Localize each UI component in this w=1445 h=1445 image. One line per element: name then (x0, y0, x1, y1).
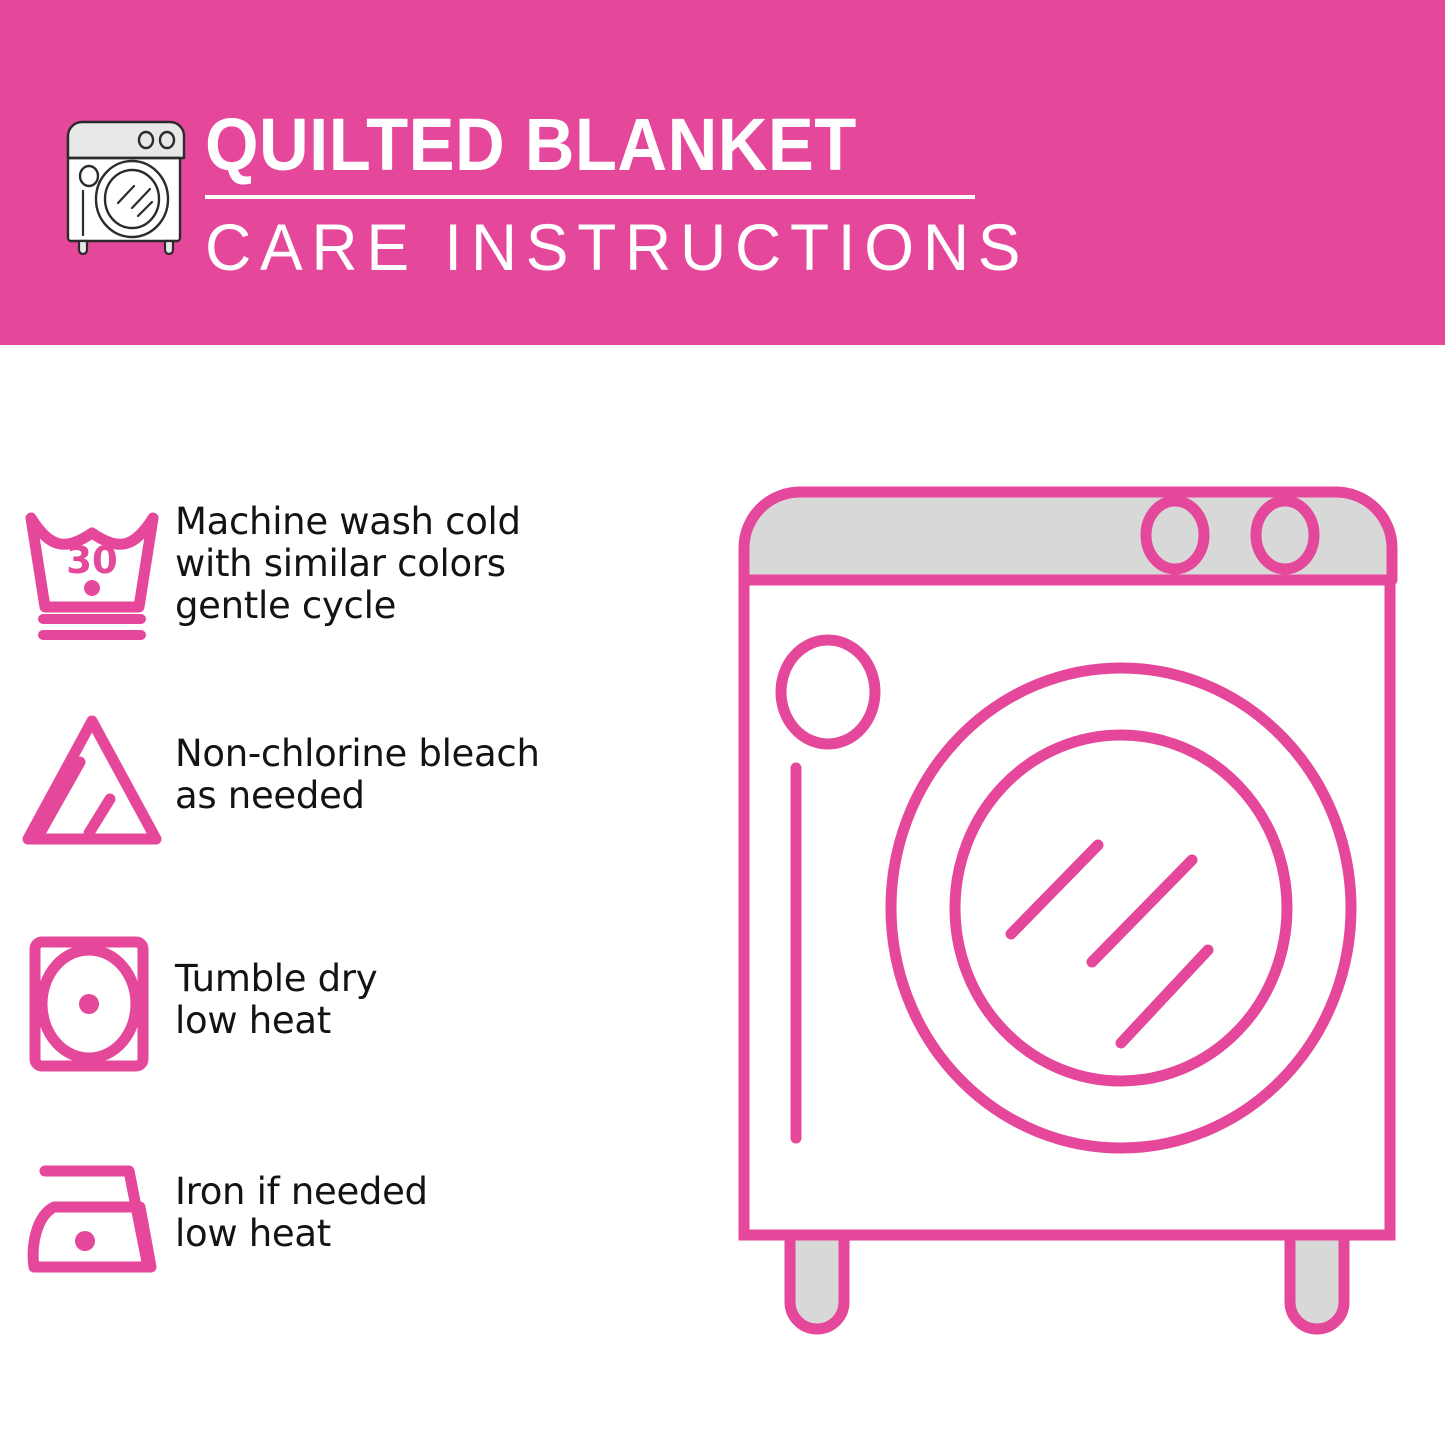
header-banner: QUILTED BLANKET CARE INSTRUCTIONS (0, 0, 1445, 345)
care-row: Tumble dry low heat (0, 930, 700, 1080)
care-instructions-infographic: QUILTED BLANKET CARE INSTRUCTIONS 30 (0, 0, 1445, 1445)
care-text-line: Non-chlorine bleach (175, 733, 540, 775)
header-text-block: QUILTED BLANKET CARE INSTRUCTIONS (205, 104, 995, 284)
care-text-line: gentle cycle (175, 585, 521, 627)
care-text-line: with similar colors (175, 543, 521, 585)
care-text-line: Machine wash cold (175, 501, 521, 543)
tumble-dry-icon (0, 930, 175, 1080)
iron-icon (0, 1145, 175, 1295)
washing-machine-icon (62, 103, 190, 255)
care-text-line: low heat (175, 1213, 428, 1255)
care-text-line: as needed (175, 775, 540, 817)
care-text: Machine wash cold with similar colors ge… (175, 495, 521, 627)
care-text-line: low heat (175, 1000, 377, 1042)
svg-text:30: 30 (66, 539, 118, 582)
care-text-line: Iron if needed (175, 1171, 428, 1213)
bleach-triangle-icon (0, 707, 175, 857)
care-text: Iron if needed low heat (175, 1145, 428, 1255)
care-text: Non-chlorine bleach as needed (175, 707, 540, 817)
front-load-washing-machine-illustration (718, 470, 1418, 1370)
care-row: 30 Machine wash cold with similar colors… (0, 495, 700, 645)
care-instruction-list: 30 Machine wash cold with similar colors… (0, 345, 700, 1445)
care-row: Iron if needed low heat (0, 1145, 700, 1295)
care-row: Non-chlorine bleach as needed (0, 707, 700, 857)
title-divider (205, 195, 975, 199)
care-text-line: Tumble dry (175, 958, 377, 1000)
wash-tub-30-icon: 30 (0, 495, 175, 645)
care-text: Tumble dry low heat (175, 930, 377, 1042)
page-title: QUILTED BLANKET (205, 104, 940, 186)
page-subtitle: CARE INSTRUCTIONS (205, 210, 971, 284)
